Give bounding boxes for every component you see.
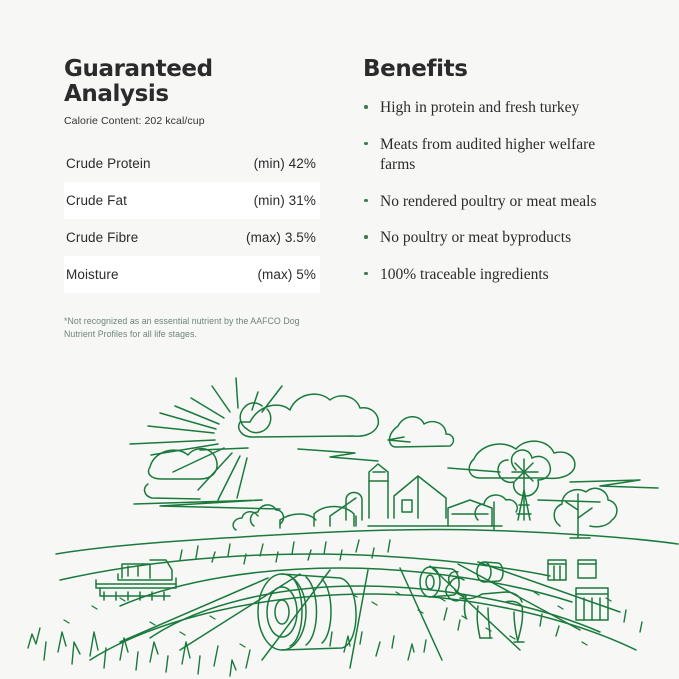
list-item: High in protein and fresh turkey xyxy=(363,98,620,118)
farm-landscape-illustration xyxy=(0,330,679,679)
benefits-list: High in protein and fresh turkey Meats f… xyxy=(363,98,633,285)
field-speckles xyxy=(64,592,611,647)
benefit-text: Meats from audited higher welfare farms xyxy=(380,136,595,173)
benefits-section: Benefits High in protein and fresh turke… xyxy=(363,57,633,301)
guaranteed-analysis-section: Guaranteed Analysis Calorie Content: 202… xyxy=(64,57,320,341)
nutrient-value: (min) 42% xyxy=(254,156,316,171)
cloud-icon-main xyxy=(200,394,378,461)
bullet-icon xyxy=(364,272,368,276)
nutrient-value: (min) 31% xyxy=(254,193,316,208)
hay-bale-square-c xyxy=(576,588,608,620)
nutrient-label: Crude Fat xyxy=(66,193,127,208)
calorie-content-label: Calorie Content: 202 kcal/cup xyxy=(64,115,320,127)
nutrition-table: Crude Protein (min) 42% Crude Fat (min) … xyxy=(64,145,320,293)
cloud-icon-left xyxy=(134,449,280,509)
list-item: No rendered poultry or meat meals xyxy=(363,192,620,212)
bullet-icon xyxy=(364,142,368,146)
list-item: 100% traceable ingredients xyxy=(363,265,620,285)
table-row: Crude Fibre (max) 3.5% xyxy=(64,219,320,256)
tree-icon-right xyxy=(554,488,617,538)
hay-bale-square-b xyxy=(578,560,596,578)
tree-icon-mid xyxy=(475,495,517,530)
table-row: Moisture (max) 5% xyxy=(64,256,320,293)
bullet-icon xyxy=(364,199,368,203)
bullet-icon xyxy=(364,235,368,239)
nutrient-label: Crude Protein xyxy=(66,156,151,171)
table-row: Crude Fat (min) 31% xyxy=(64,182,320,219)
benefit-text: 100% traceable ingredients xyxy=(380,266,549,283)
nutrient-value: (max) 3.5% xyxy=(246,230,316,245)
nutrient-value: (max) 5% xyxy=(257,267,316,282)
table-row: Crude Protein (min) 42% xyxy=(64,145,320,182)
list-item: Meats from audited higher welfare farms xyxy=(363,135,620,176)
benefit-text: No poultry or meat byproducts xyxy=(380,229,571,246)
nutrient-label: Moisture xyxy=(66,267,119,282)
barn-icon xyxy=(280,464,502,528)
guaranteed-analysis-title: Guaranteed Analysis xyxy=(64,57,320,108)
benefit-text: No rendered poultry or meat meals xyxy=(380,193,597,210)
benefit-text: High in protein and fresh turkey xyxy=(380,99,579,116)
sun-icon xyxy=(130,378,282,500)
windmill-icon xyxy=(498,450,550,520)
nutrient-label: Crude Fibre xyxy=(66,230,138,245)
hay-bale-square-a xyxy=(548,560,566,580)
bullet-icon xyxy=(364,105,368,109)
info-columns: Guaranteed Analysis Calorie Content: 202… xyxy=(0,0,679,340)
product-info-panel: Guaranteed Analysis Calorie Content: 202… xyxy=(0,0,679,679)
benefits-title: Benefits xyxy=(363,57,633,82)
hay-bale-round-large xyxy=(258,574,356,650)
list-item: No poultry or meat byproducts xyxy=(363,228,620,248)
cloud-icon-right xyxy=(388,417,658,502)
